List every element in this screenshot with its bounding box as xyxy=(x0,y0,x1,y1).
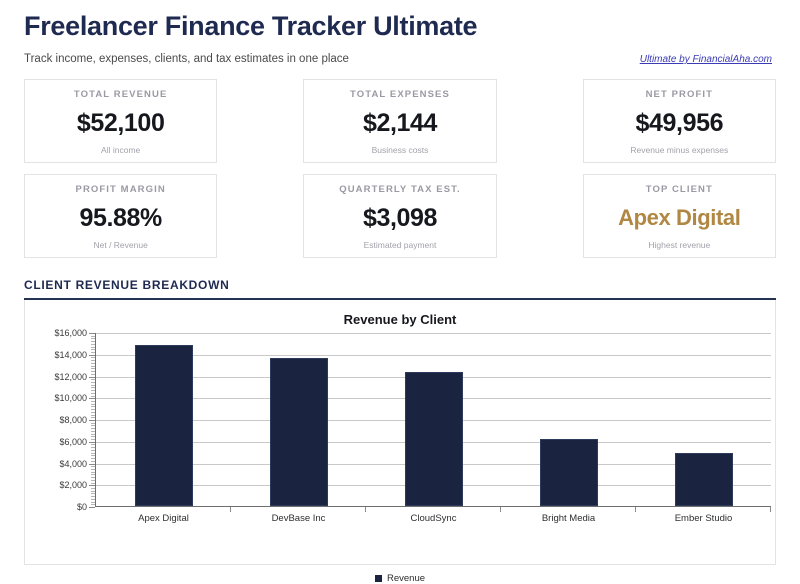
chart-panel: Revenue by Client $16,000$14,000$12,000$… xyxy=(24,300,776,565)
y-axis-tick-label: $10,000 xyxy=(54,393,87,403)
y-axis-tick-label: $4,000 xyxy=(59,459,87,469)
subtitle-row: Track income, expenses, clients, and tax… xyxy=(24,53,776,65)
bar-slot xyxy=(96,333,231,506)
kpi-value: 95.88% xyxy=(79,204,161,232)
x-axis-tick-label: DevBase Inc xyxy=(231,513,366,524)
x-axis-tick xyxy=(231,507,366,512)
chart-title: Revenue by Client xyxy=(25,300,775,327)
bar-slot xyxy=(636,333,771,506)
bar-slot xyxy=(501,333,636,506)
x-axis-tick-label: CloudSync xyxy=(366,513,501,524)
kpi-value: $49,956 xyxy=(636,109,724,137)
legend-swatch-icon xyxy=(375,575,382,582)
bar-slot xyxy=(366,333,501,506)
kpi-grid: TOTAL REVENUE $52,100 All income TOTAL E… xyxy=(24,79,776,258)
bar[interactable] xyxy=(405,372,463,506)
section-header: CLIENT REVENUE BREAKDOWN xyxy=(24,278,776,300)
x-axis-tick-label: Apex Digital xyxy=(96,513,231,524)
y-axis-tick-label: $16,000 xyxy=(54,328,87,338)
kpi-sublabel: All income xyxy=(101,145,140,155)
y-axis-tick-label: $6,000 xyxy=(59,437,87,447)
bar[interactable] xyxy=(675,453,733,506)
y-axis-tick xyxy=(89,507,95,508)
bar[interactable] xyxy=(135,345,193,506)
kpi-label: PROFIT MARGIN xyxy=(76,184,166,195)
kpi-sublabel: Estimated payment xyxy=(364,240,437,250)
chart-legend: Revenue xyxy=(25,573,775,584)
y-axis-tick-label: $14,000 xyxy=(54,350,87,360)
section-title: CLIENT REVENUE BREAKDOWN xyxy=(24,278,776,292)
kpi-label: TOTAL EXPENSES xyxy=(350,89,450,100)
x-axis-tick xyxy=(366,507,501,512)
kpi-sublabel: Revenue minus expenses xyxy=(630,145,728,155)
chart-plot-area: $16,000$14,000$12,000$10,000$8,000$6,000… xyxy=(25,333,775,533)
kpi-card-profit-margin: PROFIT MARGIN 95.88% Net / Revenue xyxy=(24,174,217,258)
kpi-label: NET PROFIT xyxy=(646,89,713,100)
plot-canvas xyxy=(96,333,771,507)
kpi-card-total-expenses: TOTAL EXPENSES $2,144 Business costs xyxy=(303,79,496,163)
kpi-value: Apex Digital xyxy=(618,204,740,232)
y-axis-tick-label: $12,000 xyxy=(54,372,87,382)
x-axis-tick-label: Ember Studio xyxy=(636,513,771,524)
legend-label: Revenue xyxy=(387,573,425,584)
dashboard-page: Freelancer Finance Tracker Ultimate Trac… xyxy=(0,0,800,573)
x-axis-labels: Apex DigitalDevBase IncCloudSyncBright M… xyxy=(96,513,771,524)
kpi-card-top-client: TOP CLIENT Apex Digital Highest revenue xyxy=(583,174,776,258)
x-axis-tick xyxy=(501,507,636,512)
brand-link[interactable]: Ultimate by FinancialAha.com xyxy=(640,54,772,65)
page-title: Freelancer Finance Tracker Ultimate xyxy=(24,8,776,44)
y-axis-tick-label: $2,000 xyxy=(59,480,87,490)
x-axis-ticks xyxy=(96,507,771,512)
kpi-card-net-profit: NET PROFIT $49,956 Revenue minus expense… xyxy=(583,79,776,163)
kpi-sublabel: Business costs xyxy=(372,145,429,155)
y-axis-tick-label: $8,000 xyxy=(59,415,87,425)
y-axis-labels: $16,000$14,000$12,000$10,000$8,000$6,000… xyxy=(29,333,91,507)
y-axis-tick-label: $0 xyxy=(77,502,87,512)
bar[interactable] xyxy=(270,358,328,506)
kpi-label: QUARTERLY TAX EST. xyxy=(339,184,461,195)
kpi-card-quarterly-tax: QUARTERLY TAX EST. $3,098 Estimated paym… xyxy=(303,174,496,258)
kpi-card-total-revenue: TOTAL REVENUE $52,100 All income xyxy=(24,79,217,163)
kpi-label: TOTAL REVENUE xyxy=(74,89,167,100)
bar[interactable] xyxy=(540,439,598,506)
kpi-value: $2,144 xyxy=(363,109,437,137)
x-axis-tick xyxy=(636,507,771,512)
kpi-label: TOP CLIENT xyxy=(646,184,713,195)
x-axis-tick xyxy=(96,507,231,512)
kpi-sublabel: Net / Revenue xyxy=(93,240,147,250)
x-axis-tick-label: Bright Media xyxy=(501,513,636,524)
bar-slot xyxy=(231,333,366,506)
page-header: Freelancer Finance Tracker Ultimate Trac… xyxy=(0,0,800,65)
page-subtitle: Track income, expenses, clients, and tax… xyxy=(24,53,349,65)
bar-series xyxy=(96,333,771,506)
kpi-value: $3,098 xyxy=(363,204,437,232)
kpi-value: $52,100 xyxy=(77,109,165,137)
kpi-sublabel: Highest revenue xyxy=(648,240,710,250)
